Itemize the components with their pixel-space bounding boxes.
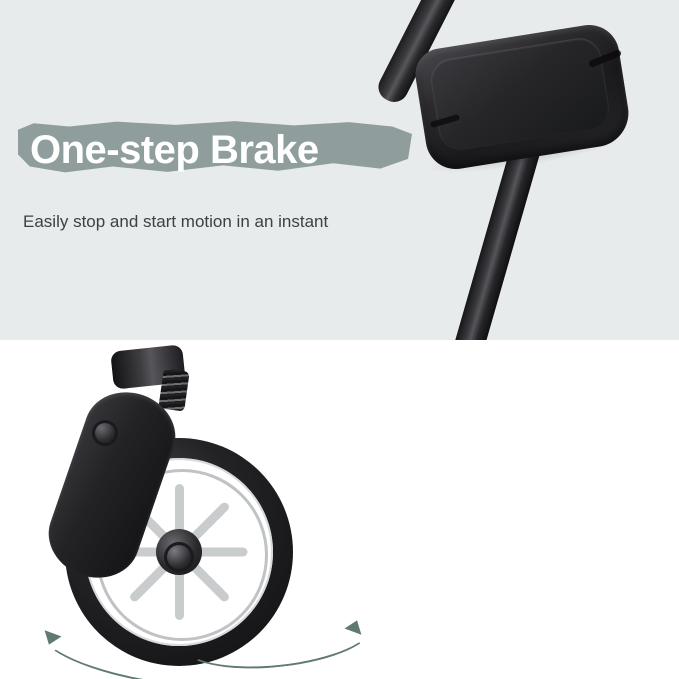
rotating-wheels-panel: 360° Rotating Wheels The smoothest bump … <box>0 340 679 679</box>
one-step-brake-panel: One-step Brake Easily stop and start mot… <box>0 0 679 340</box>
fork-pivot-bolt-top <box>92 420 118 446</box>
subtext-one-step-brake: Easily stop and start motion in an insta… <box>23 212 328 232</box>
headline-one-step-brake: One-step Brake <box>30 128 319 173</box>
suspension-spring <box>158 368 189 411</box>
fork-pivot-bolt-bottom <box>164 542 194 572</box>
product-feature-image: One-step Brake Easily stop and start mot… <box>0 0 679 679</box>
caster-wheel-assembly <box>30 348 340 668</box>
